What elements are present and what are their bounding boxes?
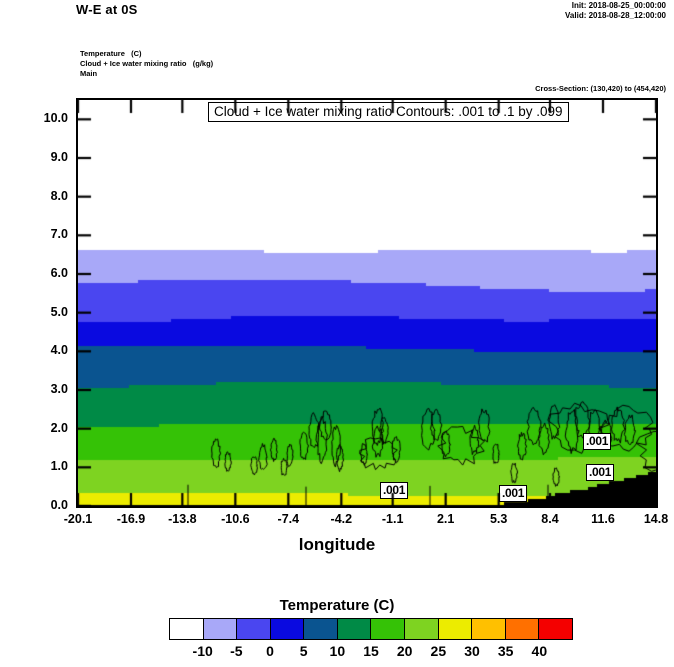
init-time-label: Init: 2018-08-25_00:00:00 xyxy=(572,1,666,10)
y-tick-label: 10.0 xyxy=(24,111,68,125)
x-tick-label: 2.1 xyxy=(418,512,474,526)
colorbar-swatch xyxy=(405,619,439,639)
colorbar-title: Temperature (C) xyxy=(0,597,674,614)
y-tick-label: 4.0 xyxy=(24,343,68,357)
y-tick-label: 8.0 xyxy=(24,189,68,203)
variable-legend: Temperature (C) Cloud + Ice water mixing… xyxy=(80,49,213,78)
colorbar-tick-labels: -10-50510152025303540 xyxy=(169,643,573,663)
y-tick-label: 0.0 xyxy=(24,498,68,512)
y-tick-label: 9.0 xyxy=(24,150,68,164)
y-tick-label: 2.0 xyxy=(24,421,68,435)
variable-line-temperature: Temperature (C) xyxy=(80,49,213,59)
cross-section-label: Cross-Section: (130,420) to (454,420) xyxy=(535,84,666,93)
colorbar-swatch xyxy=(170,619,204,639)
colorbar xyxy=(169,618,573,640)
colorbar-swatch xyxy=(472,619,506,639)
x-tick-label: 8.4 xyxy=(522,512,578,526)
colorbar-swatch xyxy=(271,619,305,639)
valid-time-label: Valid: 2018-08-28_12:00:00 xyxy=(565,11,666,20)
y-tick-label: 6.0 xyxy=(24,266,68,280)
page-title: W-E at 0S xyxy=(76,2,138,17)
colorbar-tick-label: 40 xyxy=(519,643,559,659)
x-tick-label: 14.8 xyxy=(628,512,674,526)
colorbar-swatch xyxy=(204,619,238,639)
x-axis-title: longitude xyxy=(0,535,674,555)
y-tick-label: 7.0 xyxy=(24,227,68,241)
axis-ticks-overlay xyxy=(78,100,656,506)
x-tick-label: -7.4 xyxy=(260,512,316,526)
x-tick-label: -20.1 xyxy=(50,512,106,526)
y-tick-label: 3.0 xyxy=(24,382,68,396)
x-tick-label: 5.3 xyxy=(471,512,527,526)
colorbar-swatch xyxy=(506,619,540,639)
x-tick-label: -16.9 xyxy=(103,512,159,526)
y-tick-label: 5.0 xyxy=(24,305,68,319)
variable-line-mixing-ratio: Cloud + Ice water mixing ratio (g/kg) xyxy=(80,59,213,69)
colorbar-swatch xyxy=(237,619,271,639)
x-tick-label: -13.8 xyxy=(154,512,210,526)
x-tick-label: -10.6 xyxy=(207,512,263,526)
variable-line-domain: Main xyxy=(80,69,213,79)
x-tick-label: -4.2 xyxy=(313,512,369,526)
colorbar-swatch xyxy=(338,619,372,639)
colorbar-swatch xyxy=(304,619,338,639)
cross-section-plot: Cloud + Ice water mixing ratio Contours:… xyxy=(76,98,658,508)
colorbar-swatch xyxy=(539,619,572,639)
x-tick-label: -1.1 xyxy=(365,512,421,526)
y-tick-label: 1.0 xyxy=(24,459,68,473)
colorbar-swatch xyxy=(439,619,473,639)
colorbar-swatch xyxy=(371,619,405,639)
x-tick-label: 11.6 xyxy=(575,512,631,526)
